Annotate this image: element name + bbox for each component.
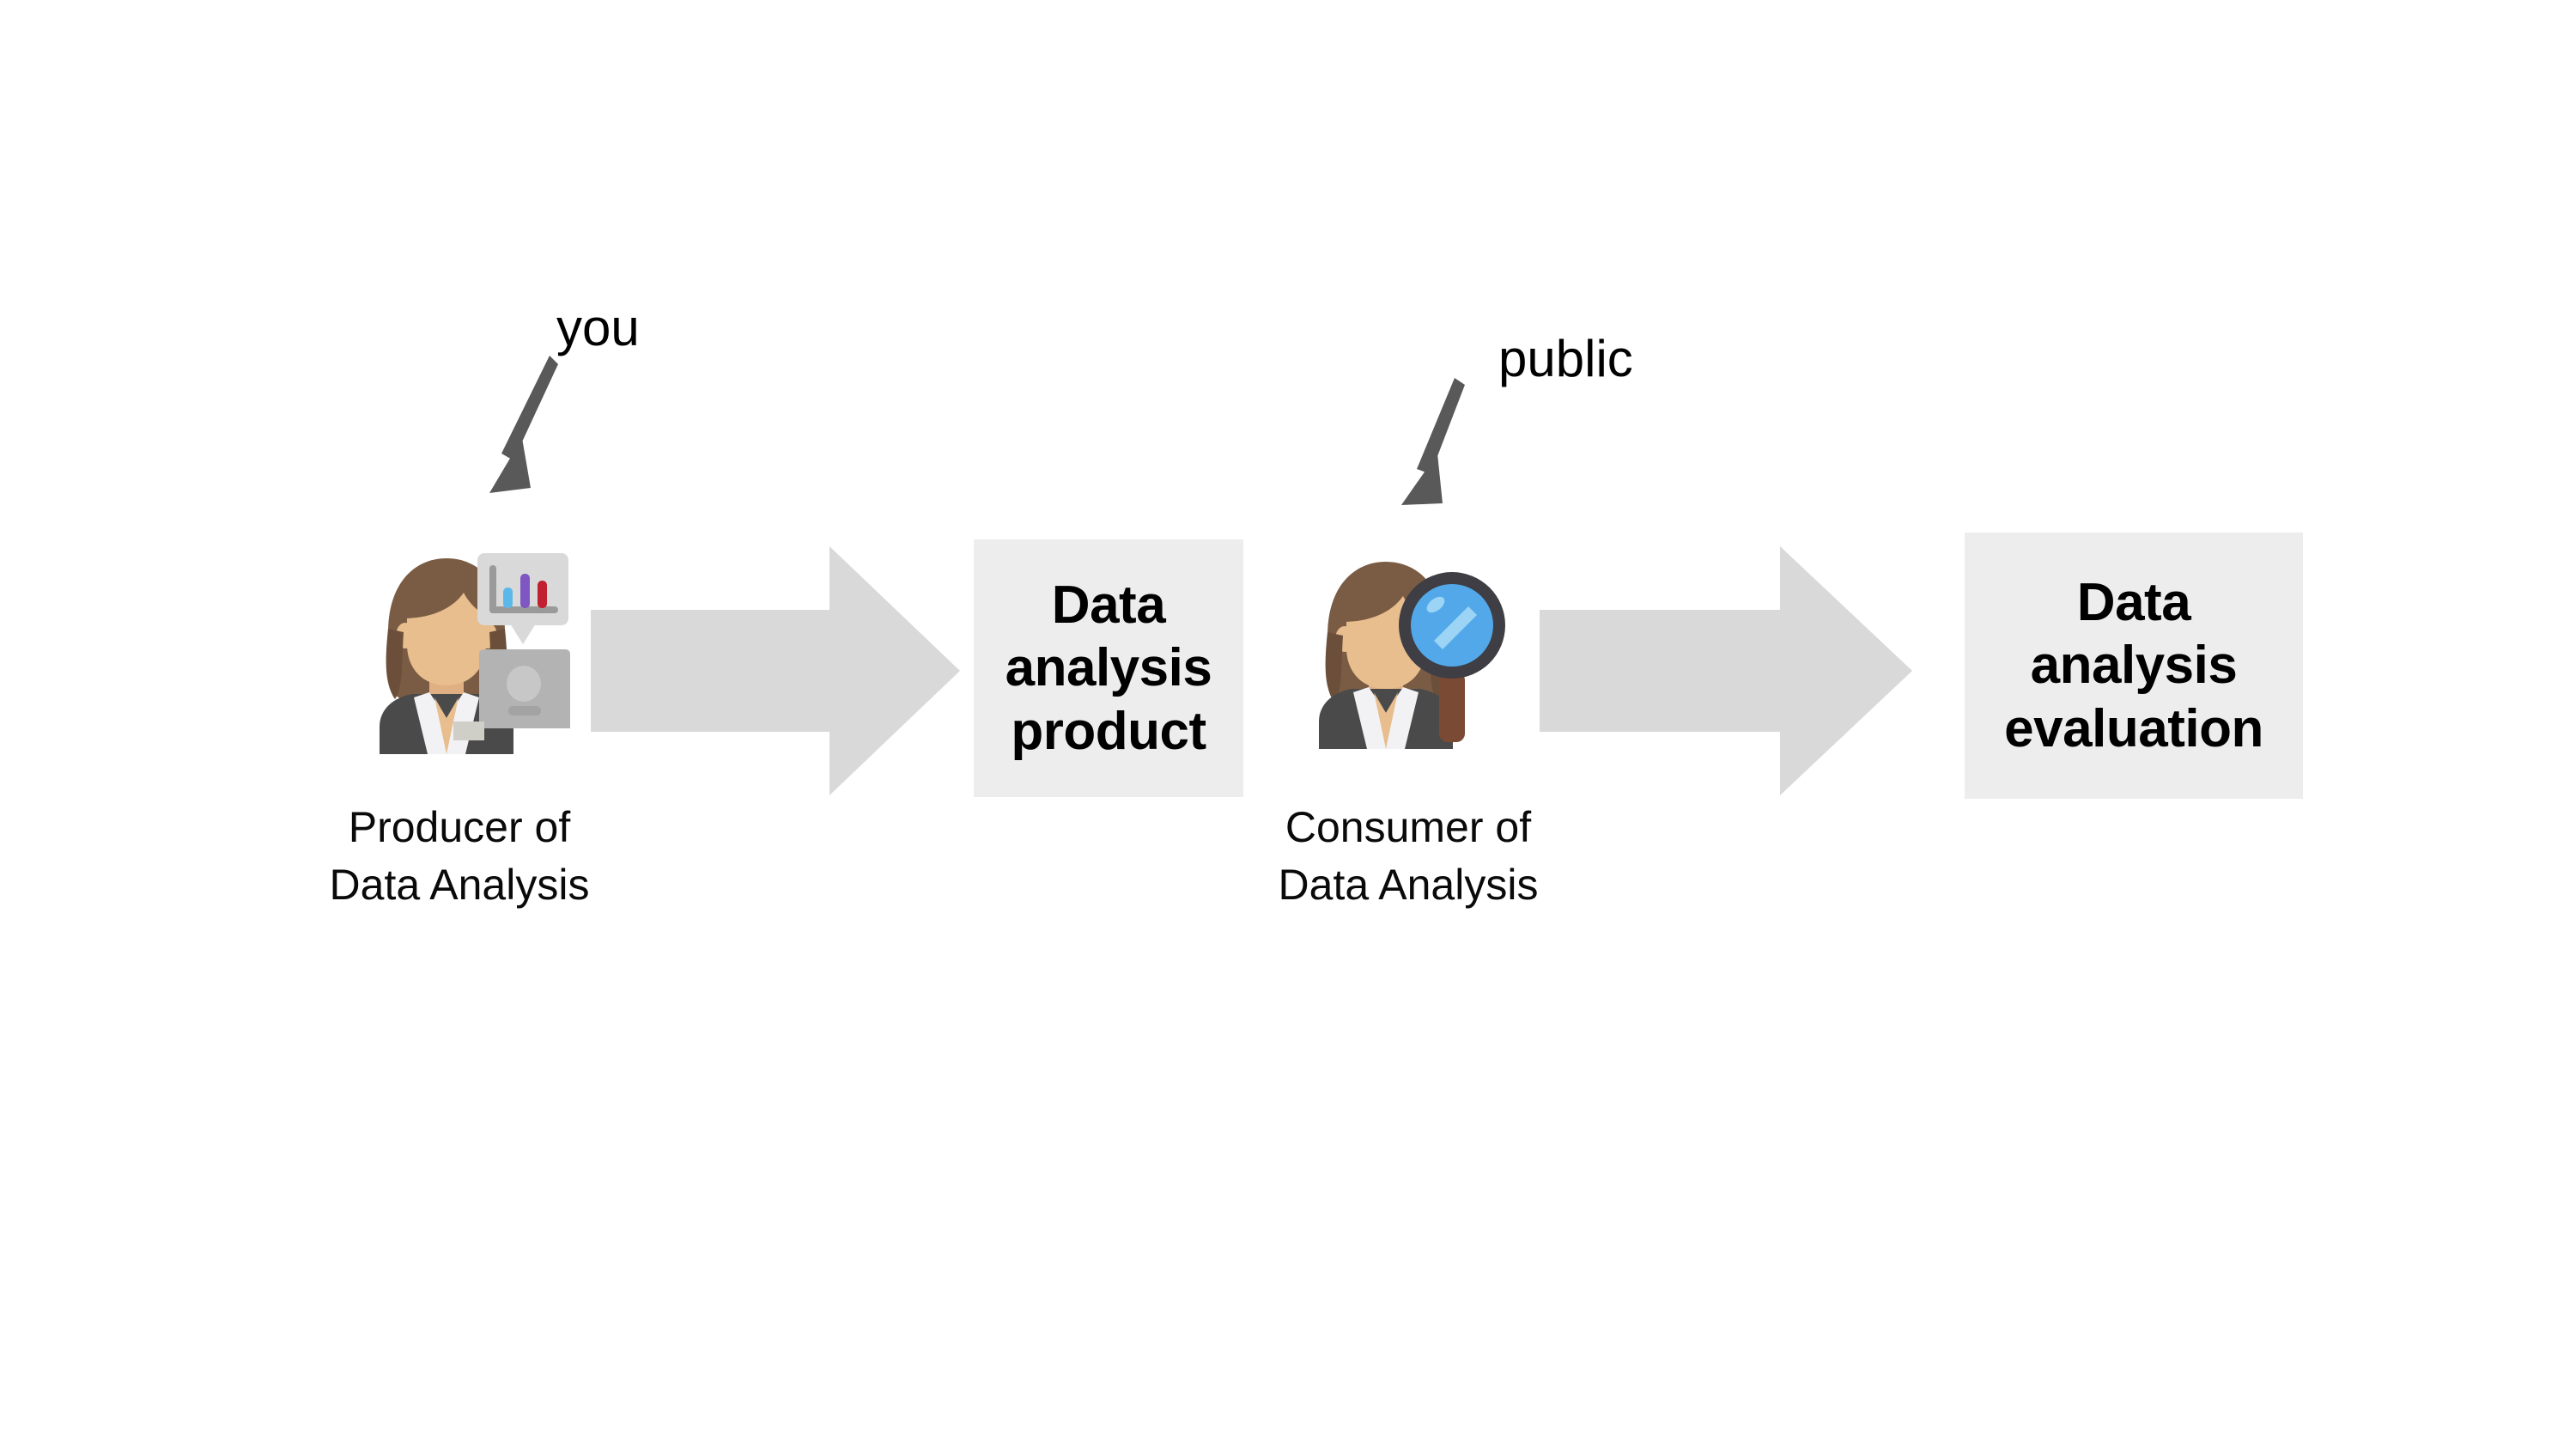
process-box-data-analysis-evaluation-label: Data analysis evaluation (2004, 571, 2263, 759)
process-box-data-analysis-evaluation[interactable]: Data analysis evaluation (1965, 533, 2303, 799)
callout-arrow-you (464, 344, 584, 515)
producer-persona-icon (350, 550, 574, 756)
consumer-caption: Consumer of Data Analysis (1236, 799, 1580, 914)
process-box-data-analysis-product[interactable]: Data analysis product (974, 539, 1243, 797)
annotation-label-public: public (1498, 333, 1633, 385)
callout-arrow-public (1389, 369, 1501, 533)
flow-arrow-consumer-to-evaluation (1540, 546, 1912, 795)
consumer-persona-icon (1305, 551, 1516, 751)
diagram-canvas: you (0, 0, 2576, 1449)
flow-arrow-producer-to-product (591, 546, 960, 795)
producer-caption: Producer of Data Analysis (288, 799, 631, 914)
process-box-data-analysis-product-label: Data analysis product (1005, 574, 1212, 762)
